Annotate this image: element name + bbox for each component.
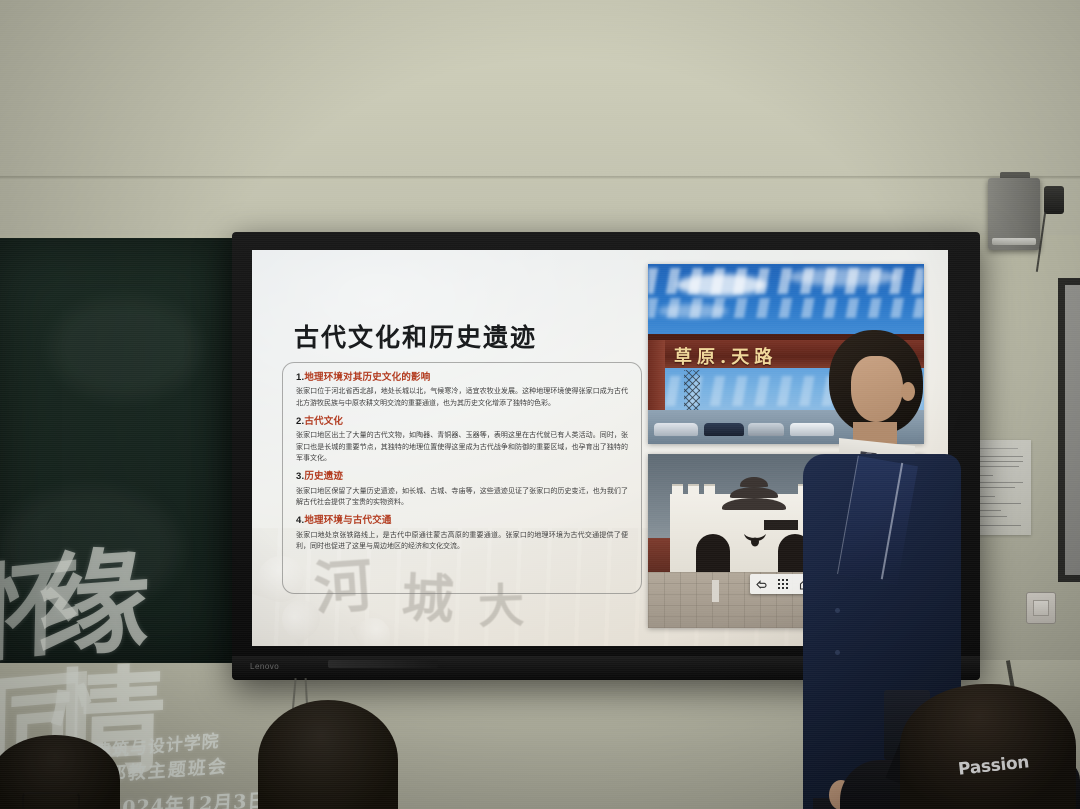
section-title-2: 古代文化 [304,416,343,427]
section-title-1: 地理环境对其历史文化的影响 [304,372,430,383]
blackboard: 怀 缘 同 情 建筑与设计学院 反邪教主题班会 2024年12月3日 [0,238,239,663]
section-heading-2: 2.古代文化 [296,416,628,427]
display-control-bar[interactable] [328,660,438,668]
section-body-3: 张家口地区保留了大量历史遗迹，如长城、古城、寺庙等，这些遗迹见证了张家口的历史变… [296,486,628,509]
presenter-head [829,330,923,434]
light-switch[interactable] [1026,592,1056,624]
section-body-1: 张家口位于河北省西北部，地处长城以北，气候寒冷，适宜农牧业发展。这种地理环境使得… [296,386,628,409]
section-body-4: 张家口地处京张铁路线上，是古代中原通往蒙古高原的重要通道。张家口的地理环境为古代… [296,530,628,553]
slide-content-box: 1.地理环境对其历史文化的影响 张家口位于河北省西北部，地处长城以北，气候寒冷，… [282,362,642,594]
section-body-2: 张家口地区出土了大量的古代文物，如陶器、青铜器、玉器等，表明这里在古代就已有人类… [296,430,628,464]
section-title-4: 地理环境与古代交通 [304,515,391,526]
power-adapter [1044,186,1064,214]
back-icon[interactable] [755,579,767,590]
section-title-3: 历史遗迹 [304,471,343,482]
wall-upper [0,0,1080,235]
audience-head-center [258,700,398,809]
framed-wall-panel [1058,278,1080,582]
wall-seam [0,176,1080,179]
eyeglasses [22,792,80,809]
pagoda-roof [722,474,786,510]
wall-speaker [988,178,1040,250]
section-heading-4: 4.地理环境与古代交通 [296,515,628,526]
bull-emblem [742,532,768,548]
display-brand-label: Lenovo [250,662,279,671]
slide-title: 古代文化和历史遗迹 [294,318,537,354]
apps-grid-icon[interactable] [778,579,789,590]
arch-sign-text: 草原.天路 [674,343,777,369]
section-heading-3: 3.历史遗迹 [296,471,628,482]
presenter-face [851,356,903,422]
section-heading-1: 1.地理环境对其历史文化的影响 [296,372,628,383]
audience-head-right [900,684,1076,809]
classroom-scene: 怀 缘 同 情 建筑与设计学院 反邪教主题班会 2024年12月3日 河 城 大 [0,0,1080,809]
presenter-ear [901,382,915,401]
